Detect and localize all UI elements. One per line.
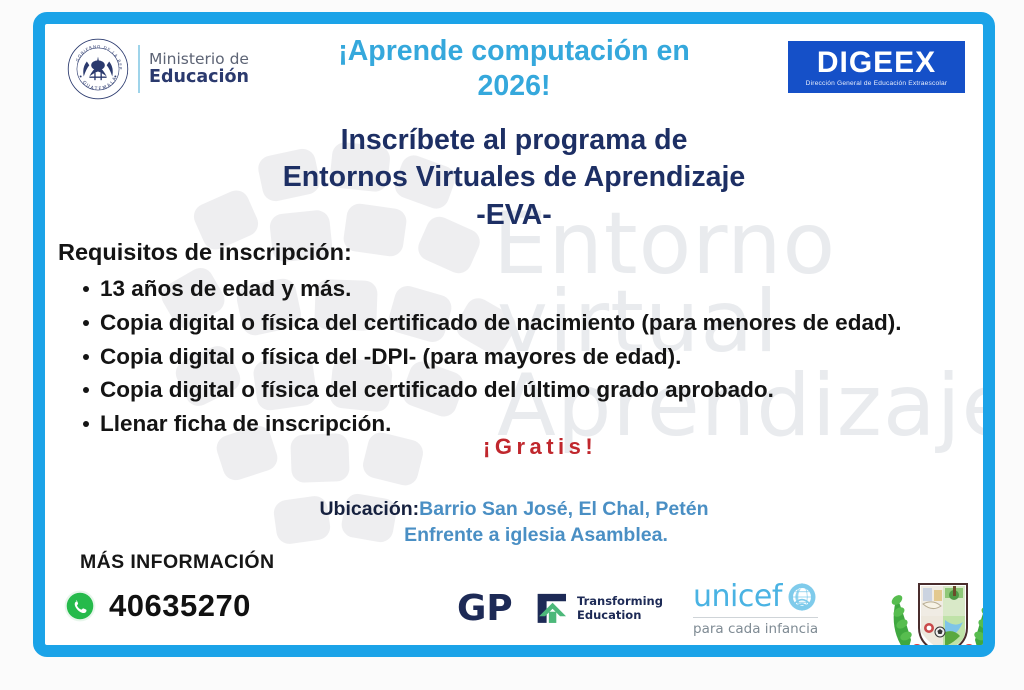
guatemala-seal-icon: GOBIERNO DE LA REPÚBLICA GUATEMALA (67, 38, 129, 100)
gpe-tag-line1: Transforming (577, 594, 663, 608)
headline-cyan-line2: 2026! (299, 69, 729, 104)
unicef-wordmark-row: unicef (693, 582, 818, 612)
headline-navy: Inscríbete al programa de Entornos Virtu… (45, 122, 983, 236)
requirement-item: Llenar ficha de inscripción. (58, 407, 901, 441)
poster-canvas: Entorno virtual Aprendizaje GOBIERNO DE … (45, 24, 983, 645)
unicef-divider (693, 617, 818, 618)
headline-cyan-line1: ¡Aprende computación en (299, 34, 729, 69)
unicef-wordmark: unicef (693, 582, 782, 612)
ministry-divider (138, 45, 140, 93)
gpe-mark-icon: GP (457, 586, 569, 630)
poster-frame: Entorno virtual Aprendizaje GOBIERNO DE … (33, 12, 995, 657)
ministry-line2: Educación (149, 68, 249, 88)
poster-root: Entorno virtual Aprendizaje GOBIERNO DE … (0, 0, 1024, 690)
gpe-tag-line2: Education (577, 608, 663, 622)
digeex-subtitle: Dirección General de Educación Extraesco… (806, 80, 948, 87)
more-info-heading: MÁS INFORMACIÓN (80, 551, 275, 574)
requirements-heading: Requisitos de inscripción: (58, 239, 901, 266)
requirements-block: Requisitos de inscripción: 13 años de ed… (58, 239, 901, 441)
headline-cyan: ¡Aprende computación en 2026! (299, 34, 729, 104)
municipality-coat-of-arms-icon (881, 570, 983, 645)
location-label: Ubicación: (319, 498, 419, 520)
ministry-logo: GOBIERNO DE LA REPÚBLICA GUATEMALA (67, 38, 249, 100)
location-block: Ubicación:Barrio San José, El Chal, Peté… (45, 496, 983, 549)
unicef-logo: unicef para cada infancia (693, 582, 818, 637)
phone-number[interactable]: 40635270 (109, 588, 251, 624)
requirement-item: Copia digital o física del certificado d… (58, 373, 901, 407)
whatsapp-icon[interactable] (63, 589, 97, 623)
contact-phone-row[interactable]: 40635270 (63, 588, 251, 624)
free-badge: ¡Gratis! (483, 434, 597, 460)
gpe-tagline: Transforming Education (577, 594, 663, 623)
unicef-tagline: para cada infancia (693, 621, 818, 637)
digeex-logo: DIGEEX Dirección General de Educación Ex… (788, 41, 965, 93)
headline-navy-line2: Entornos Virtuales de Aprendizaje (45, 159, 983, 197)
headline-navy-line3: -EVA- (45, 197, 983, 235)
requirement-item: Copia digital o física del certificado d… (58, 306, 901, 340)
location-value: Barrio San José, El Chal, Petén (419, 498, 708, 520)
location-line2: Enfrente a iglesia Asamblea. (89, 522, 983, 548)
requirement-item: 13 años de edad y más. (58, 272, 901, 306)
gpe-logo: GP Transforming Education (457, 586, 663, 630)
requirement-item: Copia digital o física del -DPI- (para m… (58, 340, 901, 374)
location-line1: Ubicación:Barrio San José, El Chal, Peté… (45, 496, 983, 522)
digeex-acronym: DIGEEX (817, 48, 936, 78)
requirements-list: 13 años de edad y más. Copia digital o f… (58, 272, 901, 441)
ministry-line1: Ministerio de (149, 51, 249, 68)
unicef-emblem-icon (787, 582, 817, 612)
ministry-label: Ministerio de Educación (149, 51, 249, 88)
headline-navy-line1: Inscríbete al programa de (45, 122, 983, 160)
svg-text:GP: GP (457, 588, 513, 629)
